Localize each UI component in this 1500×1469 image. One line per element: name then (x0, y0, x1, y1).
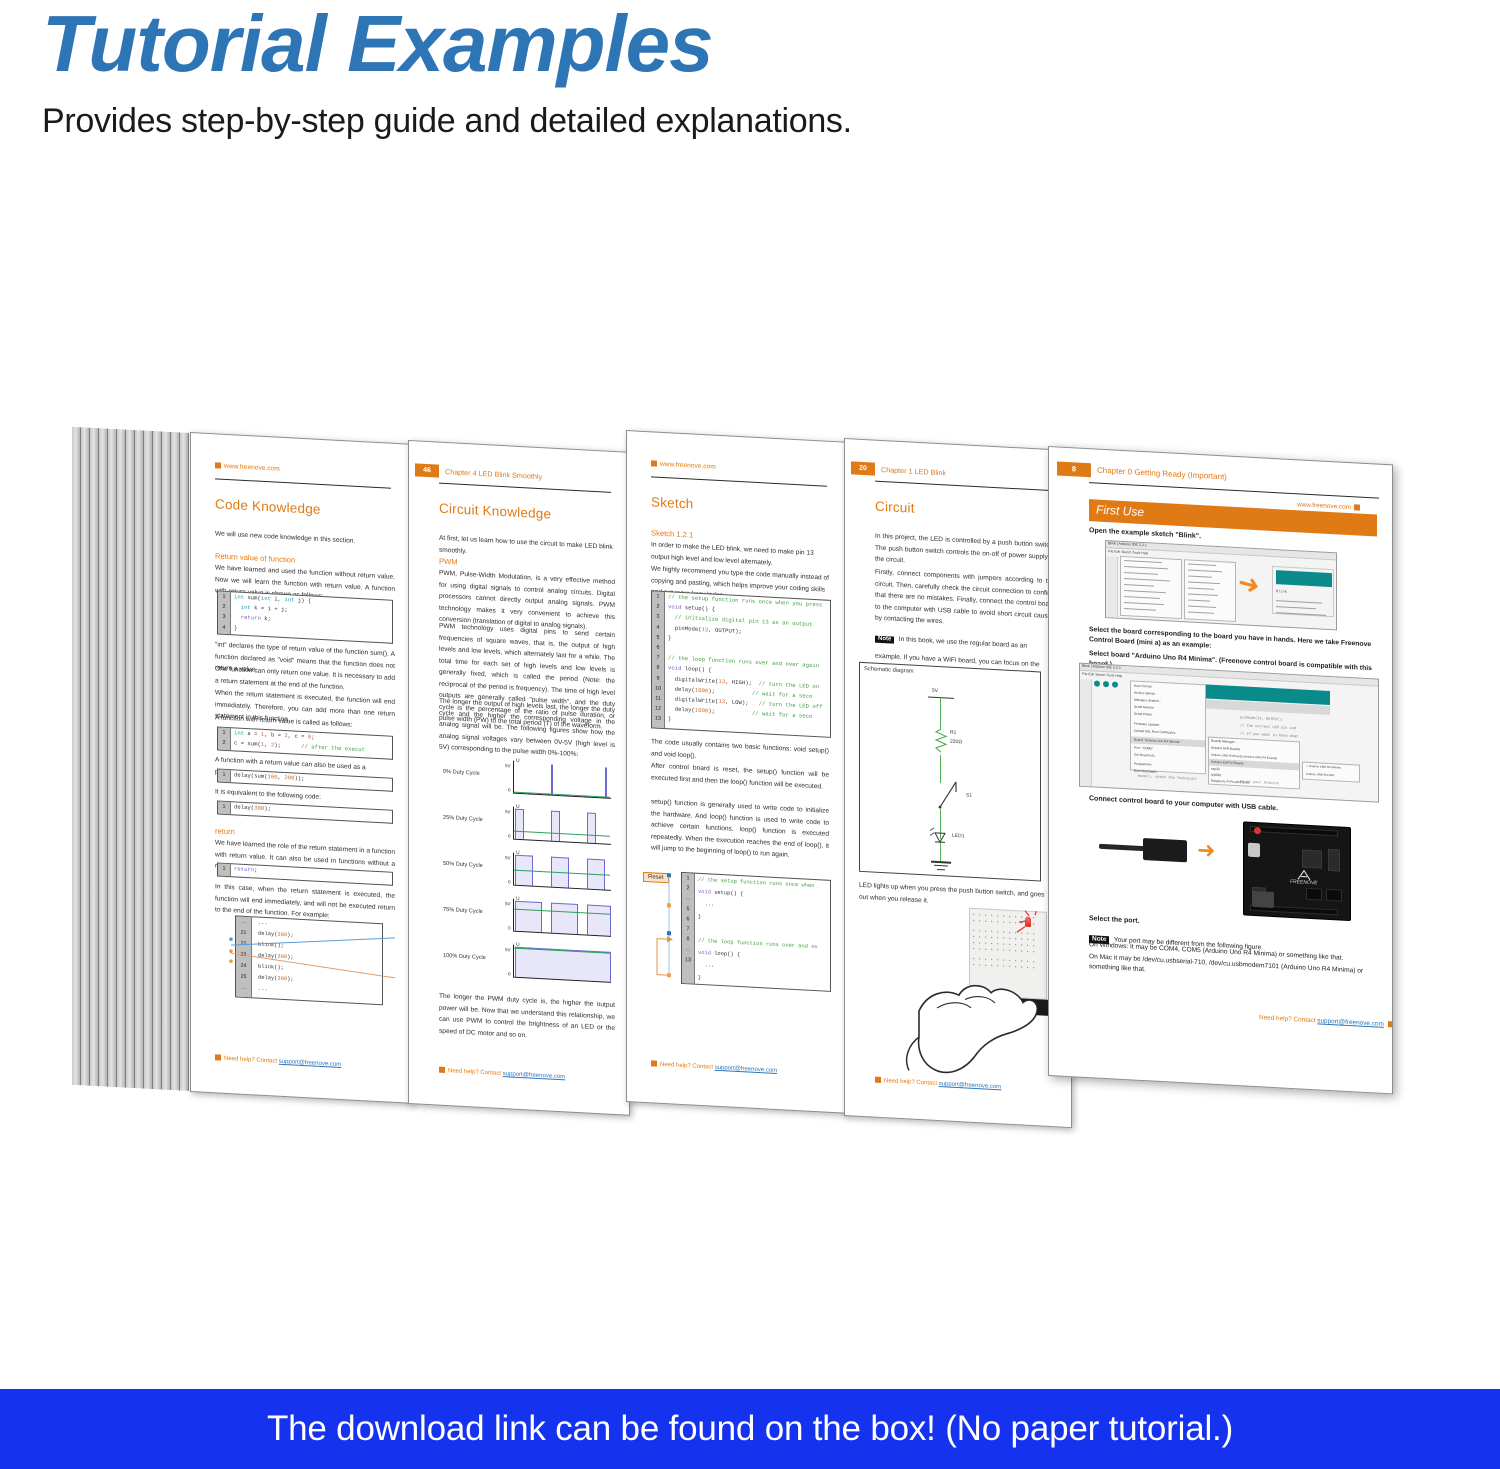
led-glow-rays (1011, 910, 1047, 938)
page-code-knowledge[interactable]: www.freenove.com Code Knowledge We will … (190, 432, 412, 1104)
download-link-banner: The download link can be found on the bo… (0, 1389, 1500, 1469)
chapter-title: Chapter 4 LED Blink Smoothly (445, 467, 542, 481)
support-email-link[interactable]: support@freenove.com (279, 1059, 341, 1068)
header-rule (215, 478, 391, 489)
page-footer[interactable]: Need help? Contact support@freenove.com (215, 1054, 341, 1068)
step-4: Connect control board to your computer w… (1089, 795, 1278, 812)
header-rule (1089, 482, 1379, 499)
page-footer[interactable]: Need help? Contact support@freenove.com (651, 1060, 777, 1074)
ide-menu-bar-2: File Edit Sketch Tools Help (1082, 672, 1122, 678)
page-circuit[interactable]: 20 Chapter 1 LED Blink Circuit In this p… (844, 438, 1072, 1128)
paragraph-5: setup() function is generally used to wr… (651, 796, 829, 863)
resistance-label: 220Ω (950, 739, 962, 746)
schematic-title: Schematic diagram (864, 666, 914, 675)
supply-label: 5V (932, 688, 938, 694)
freenove-control-board: FREENOVE (1243, 821, 1351, 921)
page-first-use[interactable]: 8 Chapter 0 Getting Ready (Important) ww… (1048, 446, 1393, 1094)
site-logo: www.freenove.com (651, 460, 716, 470)
step-5: Select the port. (1089, 915, 1140, 925)
schematic-diagram: Schematic diagram 5V R1 220Ω (859, 662, 1041, 882)
duty-cycle-25: 25% Duty Cycle U 5V 0 (443, 799, 618, 850)
header-rule (651, 476, 827, 487)
duty-cycle-50: 50% Duty Cycle U 5V 0 (443, 845, 618, 896)
header-rule (875, 481, 1053, 492)
led-symbol (928, 826, 958, 852)
support-email-link[interactable]: support@freenove.com (503, 1071, 565, 1080)
page-footer[interactable]: Need help? Contact support@freenove.com (439, 1067, 565, 1081)
execution-flow-arrows (655, 869, 681, 988)
led-label: LED1 (952, 833, 965, 840)
code-block-1: 1234 int sum(int i, int j) { int k = i +… (217, 590, 393, 643)
intro-text: At first, let us learn how to use the ci… (439, 533, 615, 565)
duty-cycle-0: 0% Duty Cycle U 5V 0 (443, 753, 618, 804)
resistor-label: R1 (950, 730, 956, 736)
page-number-tab: 46 (415, 463, 439, 477)
usb-connector-icon (1143, 838, 1187, 862)
page-number-tab: 8 (1057, 461, 1091, 477)
ide-screenshot-open-blink: Blink | Arduino IDE 2.2.1 File Edit Sket… (1105, 540, 1337, 630)
tutorial-page-fan: www.freenove.com Code Knowledge We will … (0, 0, 1500, 1389)
resistor-symbol (934, 729, 948, 756)
usb-cord (1099, 844, 1147, 852)
section-heading: Circuit Knowledge (439, 501, 551, 522)
paragraph-4: The longer the PWM duty cycle is, the hi… (439, 991, 615, 1046)
page-circuit-knowledge[interactable]: 46 Chapter 4 LED Blink Smoothly Circuit … (408, 440, 630, 1116)
sub-heading: PWM (439, 557, 458, 567)
orange-arrow-icon-2: ➜ (1197, 841, 1215, 860)
paragraph-3: The longer the output of high levels las… (439, 696, 615, 763)
page-sketch[interactable]: www.freenove.com Sketch Sketch 1.2.1 In … (626, 430, 848, 1114)
breadboard-hand-illustration (873, 899, 1063, 1099)
header-rule (439, 483, 611, 494)
switch-symbol (930, 777, 966, 813)
flow-arrows (221, 921, 395, 1008)
page-stack (72, 427, 194, 1091)
support-email-link[interactable]: support@freenove.com (1317, 1017, 1384, 1028)
orange-arrow-icon: ➜ (1236, 568, 1263, 599)
banner-text: The download link can be found on the bo… (267, 1409, 1233, 1449)
code-block-blink: 12345678910111213 // the setup function … (651, 590, 831, 738)
step-1: Open the example sketch "Blink". (1089, 527, 1201, 540)
support-email-link[interactable]: support@freenove.com (715, 1065, 777, 1074)
sub-heading-2: return (215, 826, 235, 836)
section-heading: Circuit (875, 499, 915, 516)
section-heading: Code Knowledge (215, 496, 321, 517)
banner-heading: First Use (1096, 503, 1144, 520)
paragraph-2: Firstly, connect components with jumpers… (875, 567, 1055, 634)
intro-text: We will use new code knowledge in this s… (215, 528, 393, 549)
note-badge: Note (875, 635, 894, 643)
site-logo: www.freenove.com (215, 462, 280, 472)
switch-label: S1 (966, 793, 972, 799)
page-number-tab: 20 (851, 461, 875, 475)
hand-illustration (879, 939, 1059, 1099)
page-footer[interactable]: Need help? Contact support@freenove.com (1259, 1014, 1393, 1028)
chapter-title: Chapter 0 Getting Ready (Important) (1097, 466, 1227, 482)
sub-heading: Sketch 1.2.1 (651, 528, 693, 539)
duty-cycle-100: 100% Duty Cycle U 5V 0 (443, 937, 618, 988)
ide-screenshot-select-board: Blink | Arduino IDE 2.2.1 File Edit Sket… (1079, 663, 1379, 803)
duty-cycle-75: 75% Duty Cycle U 5V 0 (443, 891, 618, 942)
code-block-structure: 12...5678...13 // the setup function run… (681, 872, 831, 992)
ide-menu-bar: File Edit Sketch Tools Help (1108, 549, 1148, 555)
section-heading: Sketch (651, 494, 693, 511)
usb-to-board-illustration: ➜ FREENOVE (1093, 809, 1383, 924)
chapter-title: Chapter 1 LED Blink (881, 465, 946, 477)
